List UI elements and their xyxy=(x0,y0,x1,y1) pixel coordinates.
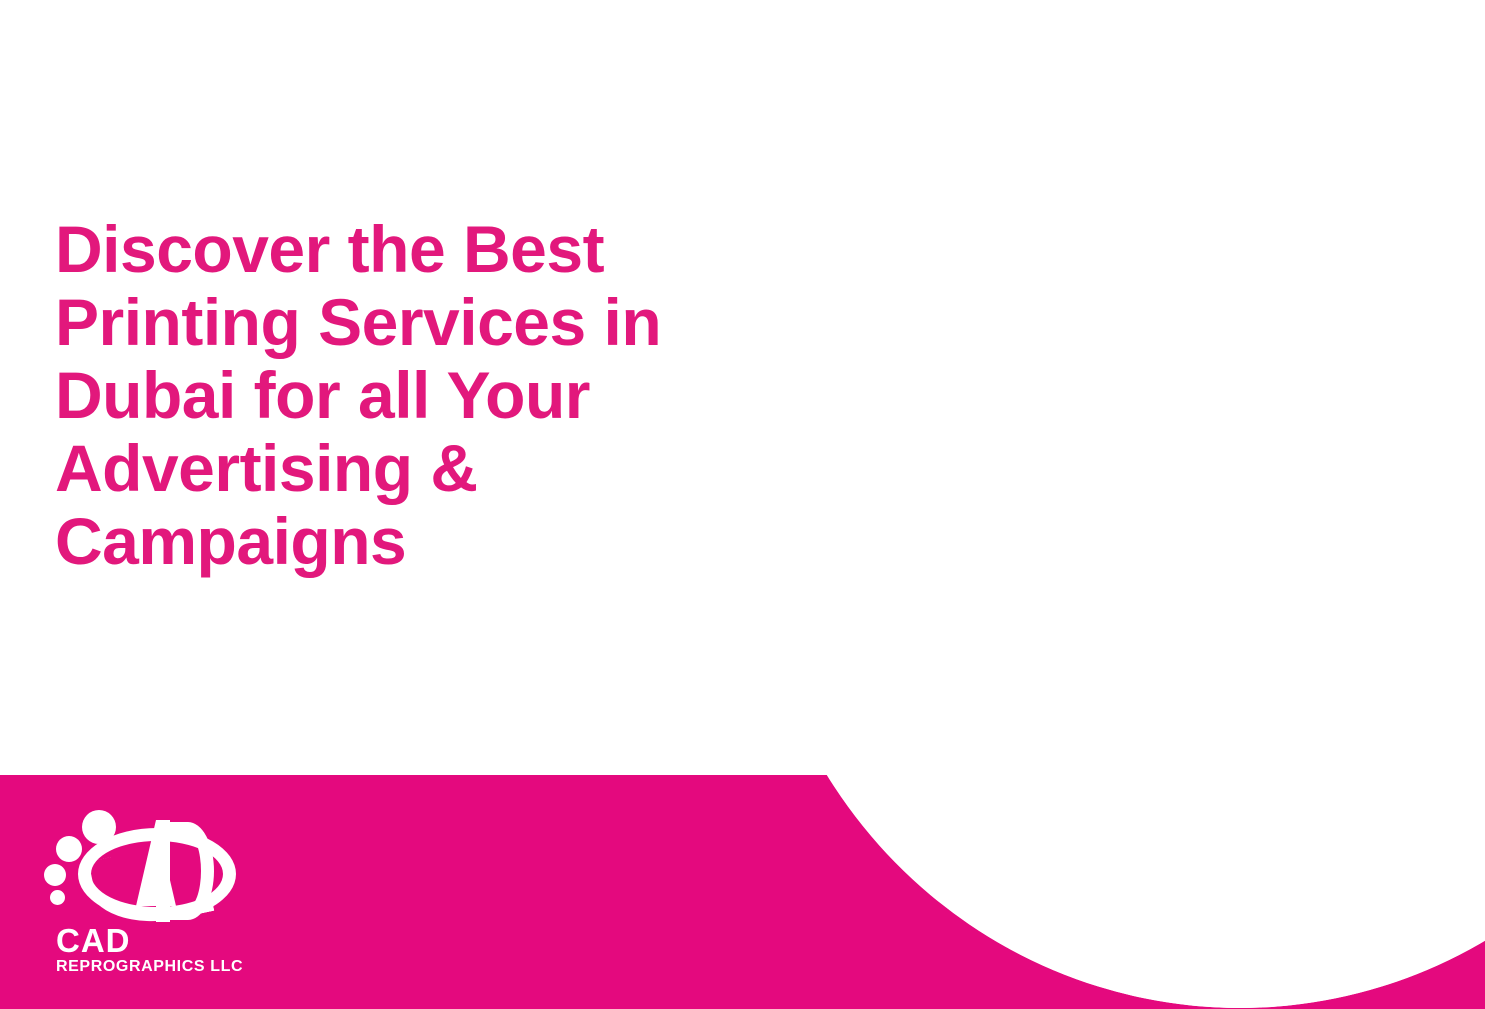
page-title: Discover the Best Printing Services in D… xyxy=(55,213,735,578)
marketing-banner: Discover the Best Printing Services in D… xyxy=(0,0,1485,1009)
logo-letter-d-icon xyxy=(162,822,214,920)
cad-monogram-icon xyxy=(44,806,244,918)
logo-company-subtitle: REPROGRAPHICS LLC xyxy=(56,959,243,975)
logo-dot-icon xyxy=(56,836,82,862)
logo-dot-icon xyxy=(44,864,66,886)
company-logo[interactable]: CAD REPROGRAPHICS LLC xyxy=(44,806,274,986)
logo-company-name: CAD xyxy=(56,924,131,957)
logo-dot-icon xyxy=(50,890,65,905)
